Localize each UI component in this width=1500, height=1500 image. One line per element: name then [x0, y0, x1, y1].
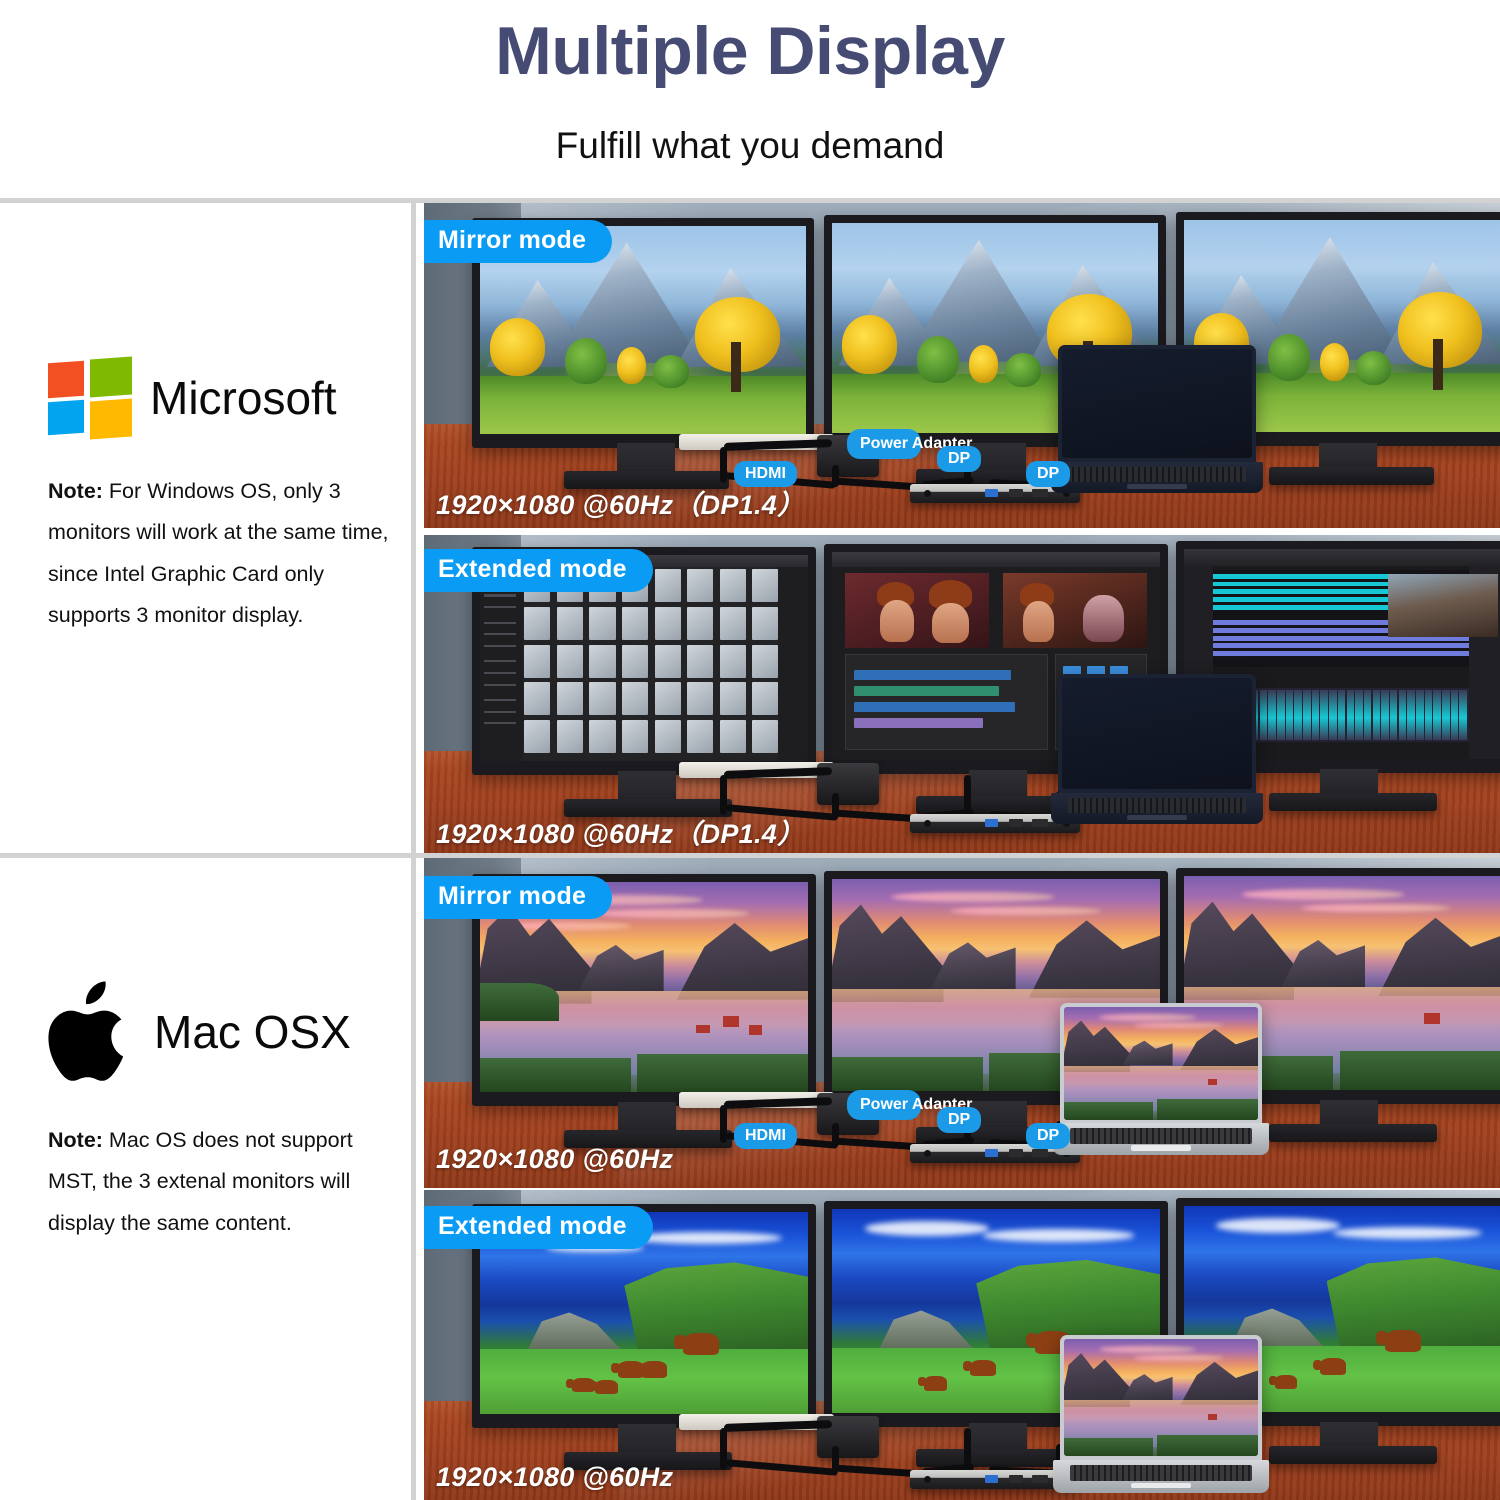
resolution-caption: 1920×1080 @60Hz — [436, 1462, 673, 1493]
resolution-caption: 1920×1080 @60Hz（DP1.4） — [436, 812, 804, 851]
os-panel-mac: Mac OSX Note: Mac OS does not support MS… — [0, 858, 410, 1500]
mode-badge: Extended mode — [424, 1206, 653, 1249]
laptop-trackpad[interactable] — [1131, 1145, 1192, 1150]
page-header: Multiple Display Fulfill what you demand — [0, 0, 1500, 200]
laptop-lid — [1060, 1335, 1262, 1461]
port-label-dp-2: DP — [1026, 461, 1070, 487]
page-title: Multiple Display — [0, 16, 1500, 87]
laptop-windows — [1058, 674, 1256, 824]
monitor-3-stand-base — [1269, 793, 1437, 811]
app-sidebar — [480, 567, 523, 761]
dock-dp-port[interactable] — [1032, 819, 1048, 827]
laptop-screen — [1064, 1007, 1258, 1120]
stage-windows-mirror: Mirror mode 1920×1080 @60Hz（DP1.4） HDMI … — [424, 203, 1500, 528]
laptop-trackpad[interactable] — [1127, 815, 1186, 820]
port-label-power-adapter: Power Adapter — [847, 1090, 921, 1120]
laptop-lid — [1058, 345, 1256, 463]
daw-mixer-faders — [1223, 688, 1469, 743]
laptop-screen — [1062, 349, 1252, 458]
divider-vertical-mac — [411, 858, 416, 1500]
monitor-3-stand-base — [1269, 1446, 1437, 1464]
os-header-windows: Microsoft — [48, 358, 337, 438]
monitor-3-stand-base — [1269, 467, 1434, 485]
laptop-lid — [1060, 1003, 1262, 1125]
laptop-keyboard[interactable] — [1068, 467, 1246, 482]
laptop-keyboard[interactable] — [1070, 1128, 1252, 1143]
port-label-dp-1: DP — [937, 446, 981, 472]
laptop-keyboard[interactable] — [1070, 1465, 1252, 1481]
laptop-macbook — [1060, 1335, 1262, 1493]
daw-toolbar — [1184, 549, 1500, 566]
laptop-trackpad[interactable] — [1131, 1483, 1192, 1488]
laptop-base — [1053, 1123, 1269, 1155]
dock-hdmi-port[interactable] — [1009, 489, 1023, 497]
dock-hdmi-port[interactable] — [1009, 1149, 1023, 1157]
resolution-caption: 1920×1080 @60Hz（DP1.4） — [436, 483, 804, 522]
port-label-power-adapter: Power Adapter — [847, 429, 921, 459]
video-preview-source — [845, 573, 989, 648]
port-label-dp-1: DP — [937, 1107, 981, 1133]
dock-hdmi-port[interactable] — [1009, 819, 1023, 827]
note-prefix: Note: — [48, 479, 103, 503]
note-prefix: Note: — [48, 1128, 103, 1152]
laptop-windows — [1058, 345, 1256, 493]
laptop-base — [1051, 793, 1263, 825]
os-panel-windows: Microsoft Note: For Windows OS, only 3 m… — [0, 203, 410, 853]
windows-logo-icon — [48, 358, 132, 438]
dock-usb-port[interactable] — [985, 819, 998, 827]
laptop-macbook — [1060, 1003, 1262, 1155]
dock-audio-port[interactable] — [924, 1476, 931, 1483]
dock-usb-port[interactable] — [985, 489, 998, 497]
dock-audio-port[interactable] — [924, 490, 931, 497]
app-right-panel — [778, 567, 808, 761]
resolution-caption: 1920×1080 @60Hz — [436, 1144, 673, 1175]
os-note-mac: Note: Mac OS does not support MST, the 3… — [48, 1120, 396, 1244]
dock-usb-port[interactable] — [985, 1149, 998, 1157]
laptop-base — [1053, 1460, 1269, 1493]
mode-badge: Mirror mode — [424, 876, 612, 919]
apple-logo-icon — [44, 980, 136, 1084]
divider-vertical-windows — [411, 203, 416, 853]
dock-audio-port[interactable] — [924, 1150, 931, 1157]
stage-mac-extended: Extended mode 1920×1080 @60Hz — [424, 1190, 1500, 1500]
dock-audio-port[interactable] — [924, 820, 931, 827]
dock-dp-port[interactable] — [1032, 1475, 1048, 1483]
dock-dp-port[interactable] — [1032, 1149, 1048, 1157]
monitor-3-stand-base — [1269, 1124, 1437, 1142]
os-name-label: Microsoft — [150, 371, 337, 425]
daw-video-preview — [1388, 574, 1498, 637]
laptop-screen — [1062, 678, 1252, 789]
page-subtitle: Fulfill what you demand — [0, 125, 1500, 167]
port-label-dp-2: DP — [1026, 1123, 1070, 1149]
sunset-fjord-artwork — [1064, 1339, 1258, 1456]
video-editor-menubar — [832, 552, 1160, 567]
thumbnail-grid — [524, 569, 778, 752]
stage-mac-mirror: Mirror mode 1920×1080 @60Hz HDMI Power A… — [424, 858, 1500, 1188]
sunset-fjord-artwork — [1064, 1007, 1258, 1120]
mode-badge: Extended mode — [424, 549, 653, 592]
port-label-hdmi: HDMI — [734, 461, 797, 487]
dock-hdmi-port[interactable] — [1009, 1475, 1023, 1483]
laptop-base — [1051, 462, 1263, 493]
mode-badge: Mirror mode — [424, 220, 612, 263]
timeline-panel — [845, 654, 1048, 750]
dock-dp-port[interactable] — [1032, 489, 1048, 497]
stage-windows-extended: Extended mode 1920×1080 @60Hz（DP1.4） — [424, 535, 1500, 853]
os-header-mac: Mac OSX — [44, 980, 351, 1084]
dock-usb-port[interactable] — [985, 1475, 998, 1483]
video-preview-program — [1003, 573, 1147, 648]
os-note-windows: Note: For Windows OS, only 3 monitors wi… — [48, 471, 396, 636]
laptop-trackpad[interactable] — [1127, 484, 1186, 489]
os-name-label: Mac OSX — [154, 1005, 351, 1059]
laptop-lid — [1058, 674, 1256, 794]
port-label-hdmi: HDMI — [734, 1123, 797, 1149]
laptop-screen — [1064, 1339, 1258, 1456]
laptop-keyboard[interactable] — [1068, 798, 1246, 813]
